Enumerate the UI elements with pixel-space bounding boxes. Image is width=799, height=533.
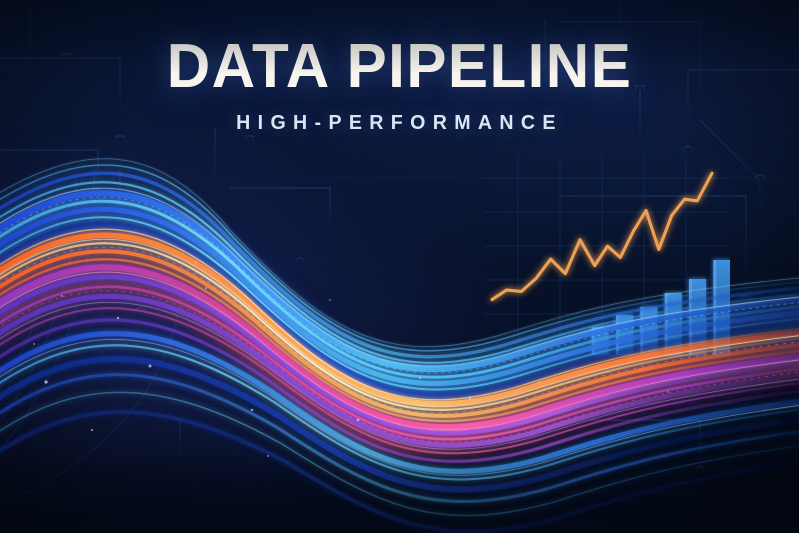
chart-bars: [592, 260, 730, 355]
bar-highlight-5: [689, 279, 692, 355]
page-subtitle: HIGH-PERFORMANCE: [8, 112, 791, 135]
page-title: DATA PIPELINE: [12, 36, 787, 98]
bar-highlight-4: [665, 293, 668, 355]
title-block: DATA PIPELINE HIGH-PERFORMANCE: [0, 36, 799, 135]
chart-baseline: [584, 354, 730, 356]
bar-highlight-2: [616, 315, 619, 355]
growth-chart: [484, 156, 730, 362]
bar-highlight-3: [640, 307, 643, 355]
bar-highlight-6: [713, 260, 716, 355]
banner-canvas: DATA PIPELINE HIGH-PERFORMANCE: [0, 0, 799, 533]
chart-panel: [484, 156, 730, 362]
bar-highlight-1: [592, 327, 595, 355]
